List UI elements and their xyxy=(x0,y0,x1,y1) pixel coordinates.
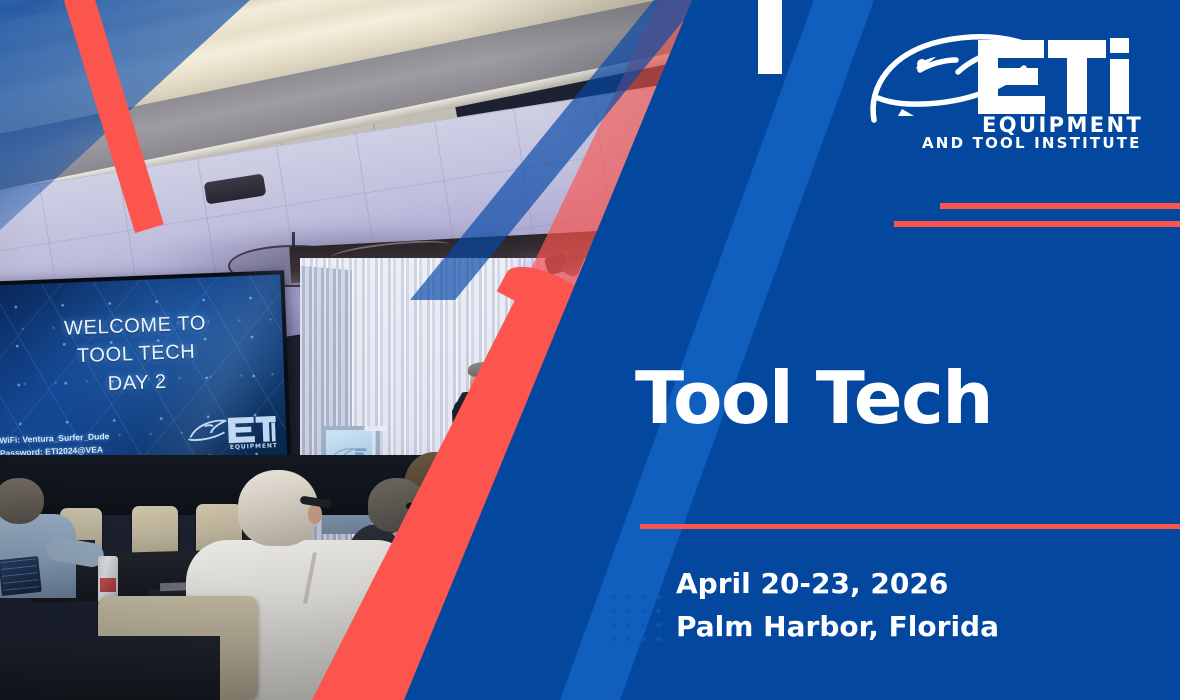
dot-grid-pattern xyxy=(604,588,666,644)
accent-rule-top-upper xyxy=(940,203,1180,209)
event-location: Palm Harbor, Florida xyxy=(676,606,999,649)
top-white-notch xyxy=(758,0,782,74)
event-date: April 20-23, 2026 xyxy=(676,567,948,600)
event-banner: WELCOME TO TOOL TECH DAY 2 WiFi: Ventura… xyxy=(0,0,1180,700)
accent-rule-top-lower xyxy=(894,221,1180,227)
eti-car-logo-icon: EQUIPMENT AND TOOL INSTITUTE xyxy=(858,24,1164,150)
event-details: April 20-23, 2026 Palm Harbor, Florida xyxy=(676,563,999,648)
page-title: Tool Tech xyxy=(635,362,992,434)
logo-institute-text: AND TOOL INSTITUTE xyxy=(922,134,1142,150)
accent-rule-under-title xyxy=(640,524,1180,529)
